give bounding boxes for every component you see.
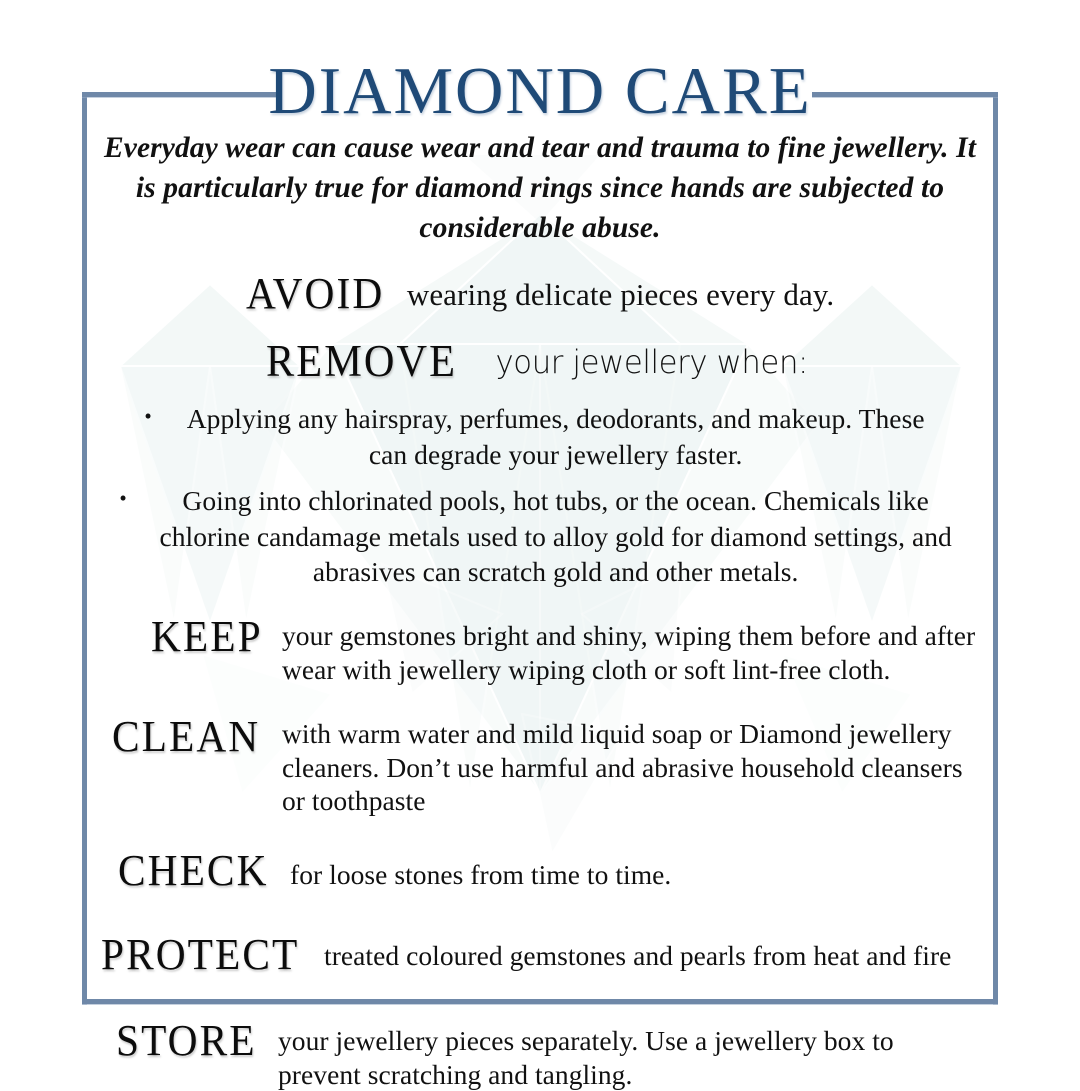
check-text: for loose stones from time to time. [278, 846, 671, 892]
protect-text: treated coloured gemstones and pearls fr… [312, 930, 951, 973]
section-clean: CLEAN with warm water and mild liquid so… [88, 712, 992, 818]
list-item-text: Going into chlorinated pools, hot tubs, … [151, 483, 961, 590]
store-keyword-cell: STORE [94, 1016, 266, 1064]
protect-keyword: PROTECT [101, 932, 299, 978]
keep-keyword: KEEP [151, 614, 263, 660]
keep-keyword-cell: KEEP [110, 612, 270, 660]
avoid-keyword: AVOID [246, 268, 384, 319]
section-check: CHECK for loose stones from time to time… [88, 846, 992, 894]
frame-left-edge [82, 92, 87, 1004]
intro-paragraph: Everyday wear can cause wear and tear an… [102, 128, 978, 248]
page-title: DIAMOND CARE [0, 58, 1080, 125]
keep-text: your gemstones bright and shiny, wiping … [270, 612, 992, 686]
clean-text: with warm water and mild liquid soap or … [270, 712, 992, 818]
store-keyword: STORE [116, 1018, 257, 1064]
frame-right-edge [993, 92, 998, 1004]
clean-keyword: CLEAN [112, 714, 260, 760]
protect-keyword-cell: PROTECT [88, 930, 312, 978]
remove-text: your jewellery when: [495, 343, 807, 381]
check-keyword-cell: CHECK [88, 846, 278, 894]
list-item-text: Applying any hairspray, perfumes, deodor… [176, 401, 936, 473]
avoid-row: AVOIDwearing delicate pieces every day. [88, 268, 992, 319]
list-item: • Applying any hairspray, perfumes, deod… [88, 401, 992, 473]
check-keyword: CHECK [118, 848, 269, 894]
content-column: Everyday wear can cause wear and tear an… [88, 128, 992, 1091]
bullet-icon: • [144, 403, 151, 431]
remove-bullet-list: • Applying any hairspray, perfumes, deod… [88, 401, 992, 590]
section-keep: KEEP your gemstones bright and shiny, wi… [88, 612, 992, 686]
remove-keyword: REMOVE [266, 335, 457, 387]
diamond-care-poster: DIAMOND CARE Everyday wear can cause wea… [0, 0, 1080, 1080]
list-item: • Going into chlorinated pools, hot tubs… [88, 483, 992, 590]
avoid-text: wearing delicate pieces every day. [407, 277, 834, 312]
section-protect: PROTECT treated coloured gemstones and p… [88, 930, 992, 978]
remove-row: REMOVEyour jewellery when: [88, 335, 992, 387]
bullet-icon: • [119, 485, 126, 513]
clean-keyword-cell: CLEAN [94, 712, 270, 760]
